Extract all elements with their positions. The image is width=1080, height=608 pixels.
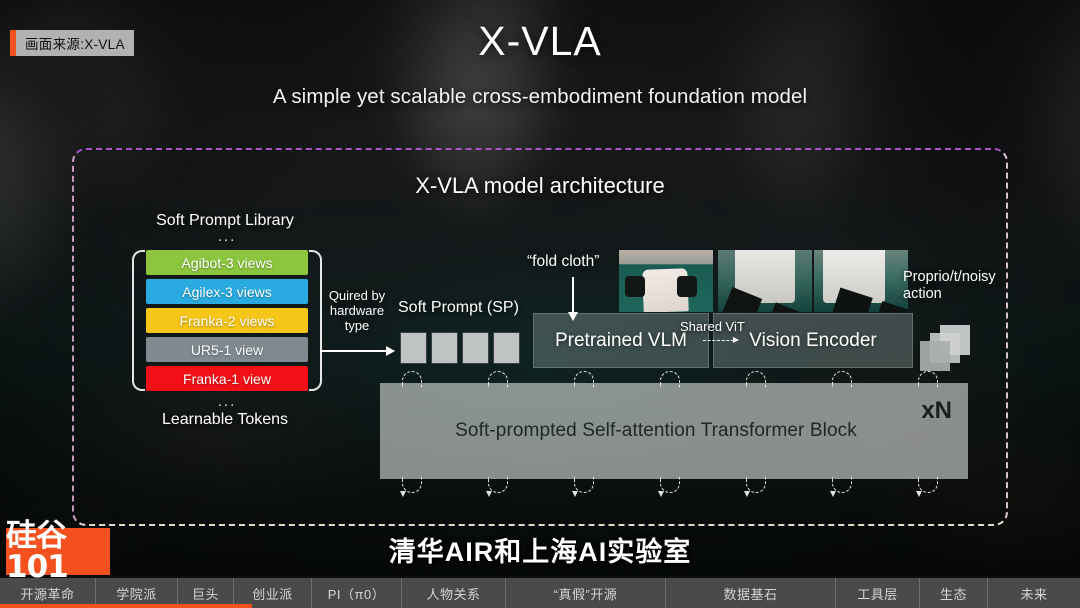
query-by-hardware-label: Quired by hardware type: [318, 288, 396, 333]
list-item[interactable]: Agibot-3 views: [146, 250, 308, 275]
instruction-label: “fold cloth”: [527, 253, 599, 271]
source-badge-label: 画面来源:X-VLA: [16, 30, 134, 56]
repeat-count-label: xN: [921, 397, 952, 425]
channel-logo-text: 硅谷101: [6, 521, 110, 583]
thumbnail-image: [718, 250, 812, 312]
list-item[interactable]: Franka-2 views: [146, 308, 308, 333]
thumbnail-image: [619, 250, 713, 312]
stem-icon: [832, 371, 852, 387]
proprio-token-stack: [920, 325, 980, 377]
slide-stage: 画面来源:X-VLA X-VLA A simple yet scalable c…: [0, 0, 1080, 608]
stem-icon: [488, 477, 508, 493]
thumbnail-image: [814, 250, 908, 312]
nav-item-pi[interactable]: PI（π0）: [312, 578, 402, 608]
shared-vit-label: Shared ViT: [680, 319, 745, 334]
stem-icon: [918, 477, 938, 493]
page-title: X-VLA: [0, 18, 1080, 65]
thumbnail-group-vision: [718, 250, 908, 312]
stem-icon: [488, 371, 508, 387]
list-item[interactable]: Franka-1 view: [146, 366, 308, 391]
transformer-output-stems: [380, 477, 968, 493]
list-item[interactable]: Agilex-3 views: [146, 279, 308, 304]
stem-icon: [660, 371, 680, 387]
arrow-right-icon: [320, 350, 394, 352]
ellipsis-bottom: ...: [132, 395, 322, 411]
bracket-left-icon: [132, 250, 145, 391]
stem-icon: [574, 477, 594, 493]
arrow-down-icon: [572, 277, 574, 313]
nav-item-true-false-open-source[interactable]: “真假”开源: [506, 578, 666, 608]
nav-item-tooling-layer[interactable]: 工具层: [836, 578, 920, 608]
soft-prompt-cell: [493, 332, 520, 364]
soft-prompt-label: Soft Prompt (SP): [398, 299, 519, 317]
soft-prompt-cell: [462, 332, 489, 364]
nav-item-data-foundation[interactable]: 数据基石: [666, 578, 836, 608]
stem-icon: [402, 371, 422, 387]
soft-prompt-library: Soft Prompt Library ... Agibot-3 views A…: [132, 212, 322, 429]
list-item[interactable]: UR5-1 view: [146, 337, 308, 362]
transformer-block: Soft-prompted Self-attention Transformer…: [380, 383, 968, 479]
transformer-input-stems: [380, 371, 968, 387]
stem-icon: [746, 477, 766, 493]
slide-caption: 清华AIR和上海AI实验室: [0, 530, 1080, 569]
stem-icon: [574, 371, 594, 387]
stem-icon: [660, 477, 680, 493]
learnable-tokens-label: Learnable Tokens: [128, 411, 322, 429]
soft-prompt-cell: [431, 332, 458, 364]
library-bracket-group: Agibot-3 views Agilex-3 views Franka-2 v…: [132, 250, 322, 391]
page-subtitle: A simple yet scalable cross-embodiment f…: [0, 85, 1080, 109]
stem-icon: [746, 371, 766, 387]
proprio-label: Proprio/t/noisy action: [903, 269, 985, 303]
token-cube: [920, 341, 950, 371]
shared-vit-connector-icon: [703, 340, 734, 341]
soft-prompt-cells: [400, 332, 520, 364]
nav-item-ecosystem[interactable]: 生态: [920, 578, 988, 608]
architecture-heading: X-VLA model architecture: [0, 173, 1080, 199]
thumbnail-group-vlm: [619, 250, 713, 312]
ellipsis-top: ...: [132, 230, 322, 246]
soft-prompt-cell: [400, 332, 427, 364]
nav-item-future[interactable]: 未来: [988, 578, 1080, 608]
stem-icon: [832, 477, 852, 493]
nav-progress-indicator: [0, 604, 252, 608]
stem-icon: [402, 477, 422, 493]
nav-item-people-relations[interactable]: 人物关系: [402, 578, 506, 608]
source-badge: 画面来源:X-VLA: [10, 30, 134, 56]
channel-logo: 硅谷101: [6, 528, 110, 575]
transformer-block-label: Soft-prompted Self-attention Transformer…: [455, 420, 857, 442]
